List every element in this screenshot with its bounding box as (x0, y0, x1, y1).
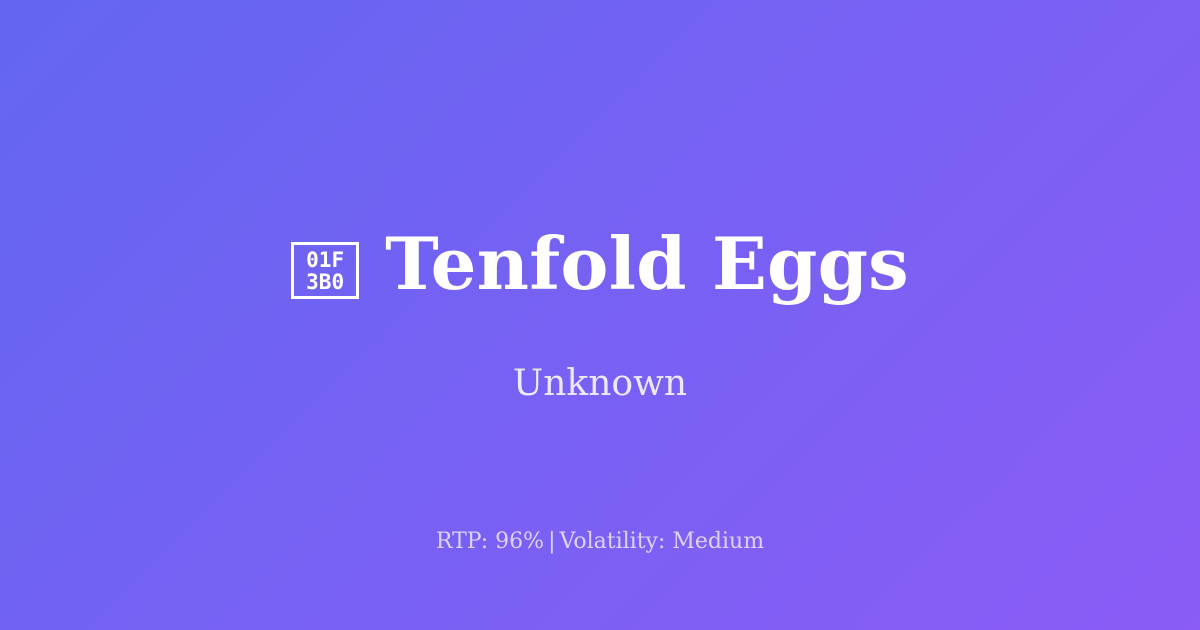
rtp-label: RTP: 96% (436, 529, 544, 554)
slot-machine-icon: 01F 3B0 (291, 228, 385, 300)
meta-separator: | (544, 529, 559, 554)
game-preview-card: 01F 3B0 Tenfold Eggs Unknown RTP: 96%|Vo… (0, 0, 1200, 630)
volatility-label: Volatility: Medium (560, 529, 765, 554)
title-row: 01F 3B0 Tenfold Eggs (0, 228, 1200, 300)
game-subtitle: Unknown (0, 362, 1200, 406)
game-title: Tenfold Eggs (385, 228, 909, 300)
tofu-glyph-box: 01F 3B0 (291, 242, 359, 299)
tofu-codepoint-bottom: 3B0 (299, 271, 351, 293)
tofu-codepoint-top: 01F (299, 249, 351, 271)
game-meta: RTP: 96%|Volatility: Medium (0, 528, 1200, 556)
